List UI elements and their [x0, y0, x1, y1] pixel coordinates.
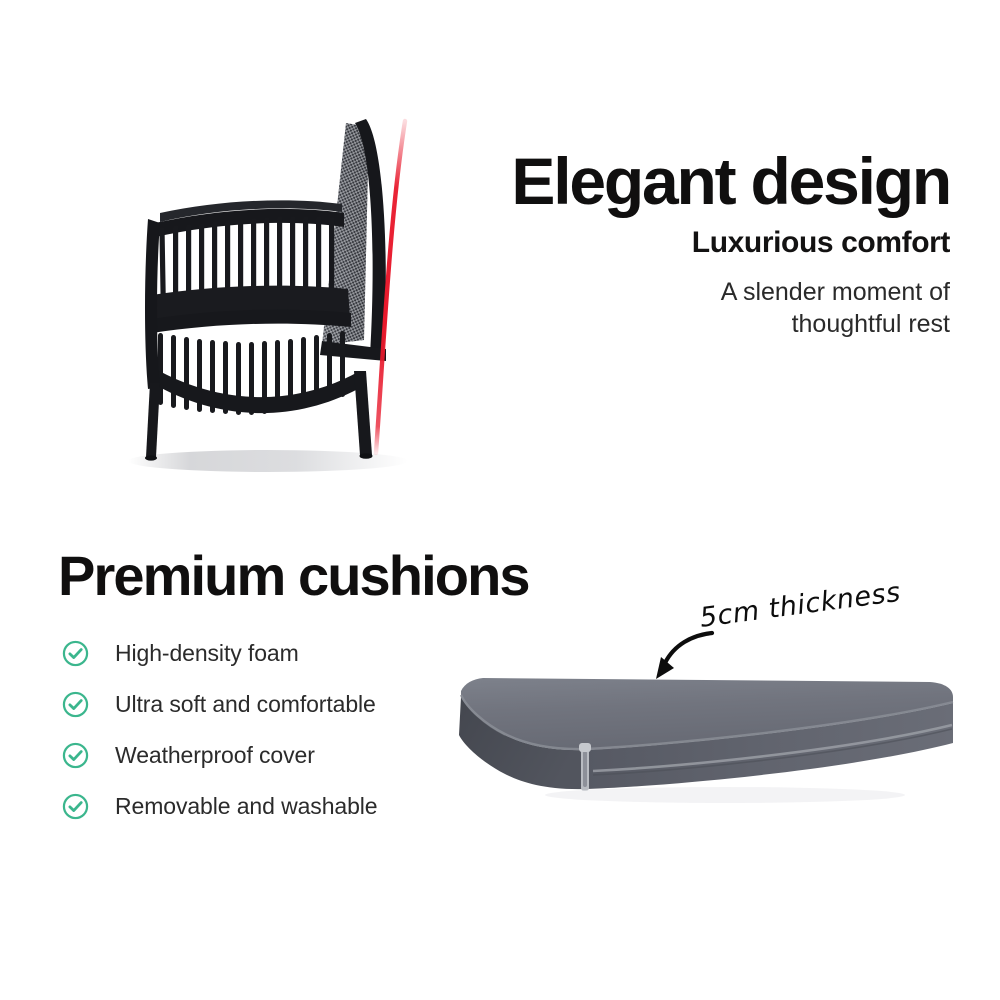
elegant-headline: Elegant design — [470, 148, 950, 214]
chair-rear-foot — [360, 453, 373, 459]
feature-label: Weatherproof cover — [115, 742, 315, 769]
check-circle-icon — [62, 691, 89, 718]
feature-label: Removable and washable — [115, 793, 377, 820]
callout-arrow-curve — [665, 633, 712, 663]
chair-rear-leg — [354, 371, 372, 455]
elegant-description: A slender moment of thoughtful rest — [470, 276, 950, 340]
check-circle-icon — [62, 793, 89, 820]
cushions-headline: Premium cushions — [58, 548, 658, 604]
chair-front-foot — [145, 455, 157, 460]
chair-front-leg — [146, 383, 160, 457]
elegant-subheadline: Luxurious comfort — [470, 228, 950, 258]
infographic-canvas: Elegant design Luxurious comfort A slend… — [0, 0, 1000, 1000]
chair-product-image — [108, 105, 448, 485]
feature-label: Ultra soft and comfortable — [115, 691, 376, 718]
check-circle-icon — [62, 640, 89, 667]
cushion-floor-shadow — [545, 787, 905, 803]
elegant-description-line-2: thoughtful rest — [792, 310, 950, 338]
feature-label: High-density foam — [115, 640, 299, 667]
check-circle-icon — [62, 742, 89, 769]
elegant-design-text-block: Elegant design Luxurious comfort A slend… — [470, 148, 950, 340]
elegant-description-line-1: A slender moment of — [721, 278, 950, 306]
